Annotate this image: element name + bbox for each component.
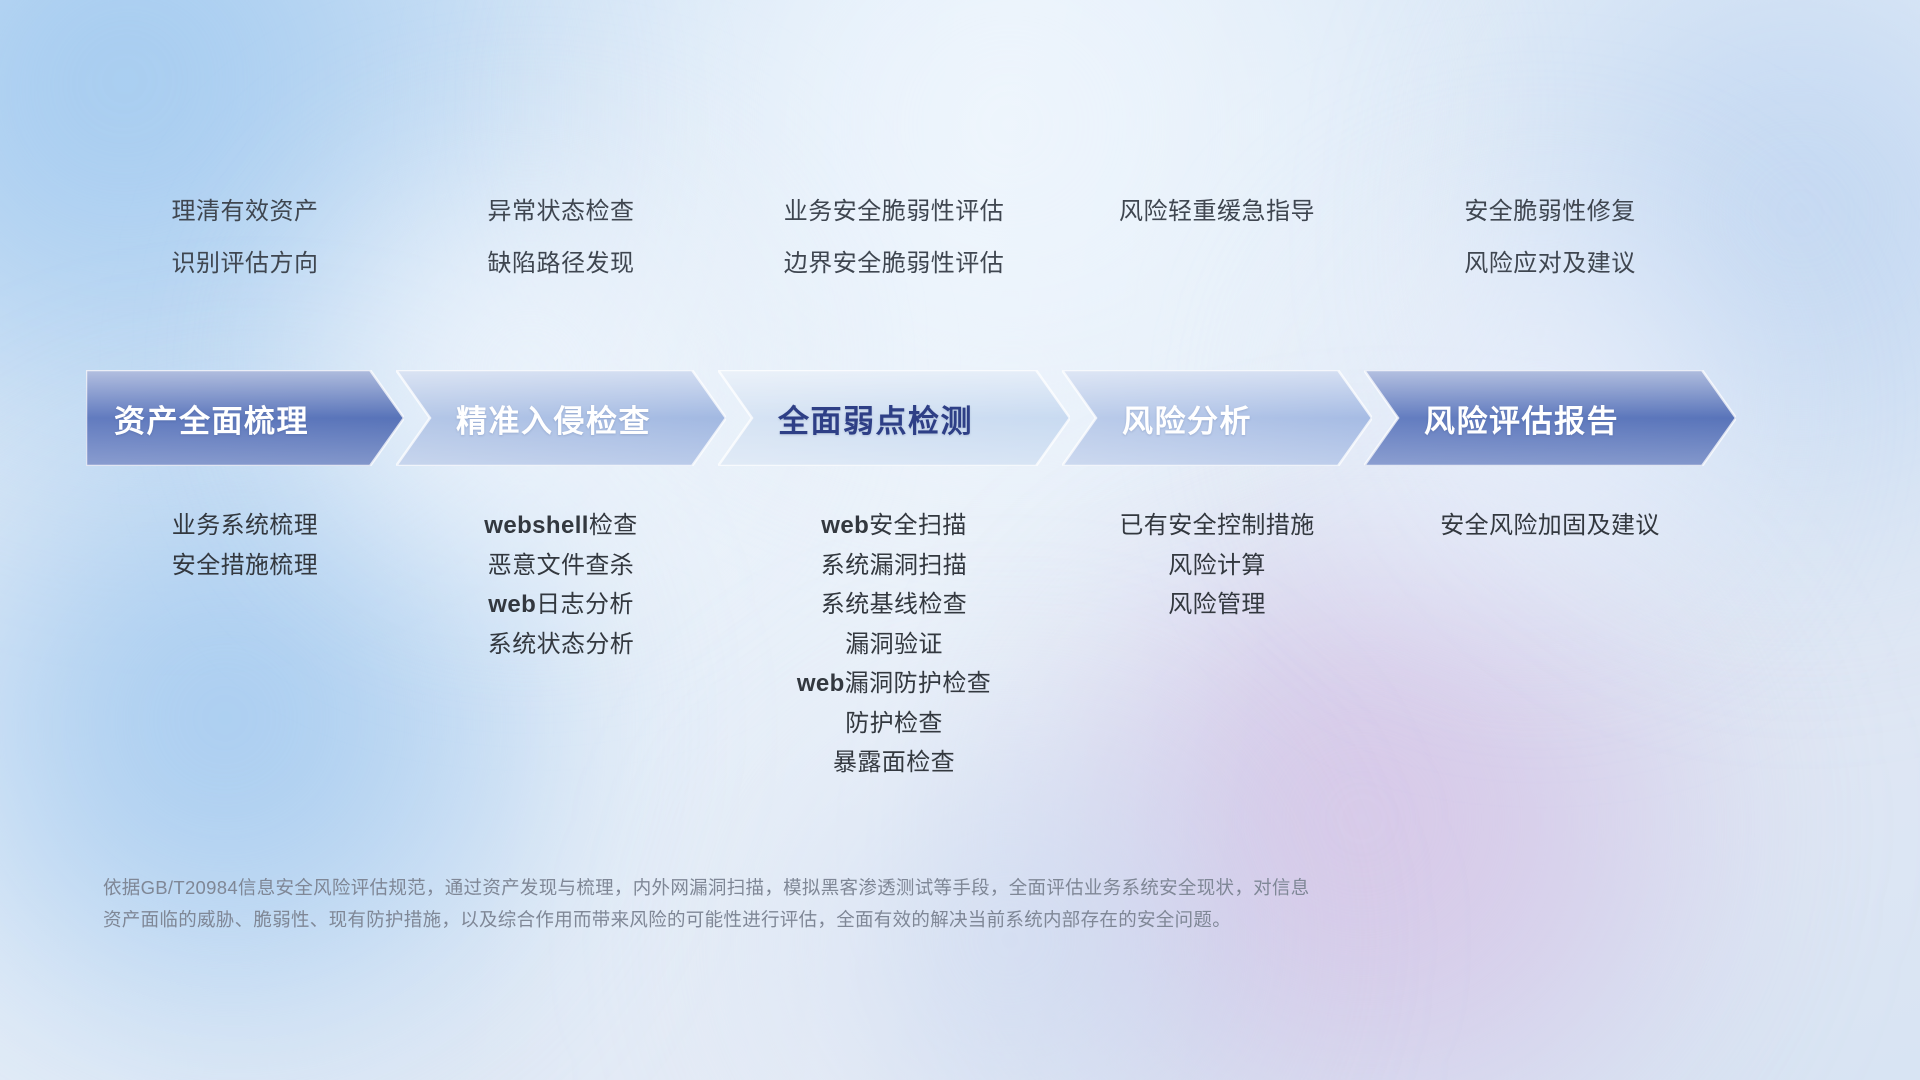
stage-chevron-1[interactable]: 资产全面梳理 (86, 370, 404, 466)
footnote: 依据GB/T20984信息安全风险评估规范，通过资产发现与梳理，内外网漏洞扫描，… (103, 872, 1573, 936)
stage-label-1: 资产全面梳理 (114, 396, 309, 441)
process-diagram: 理清有效资产 异常状态检查 业务安全脆弱性评估 风险轻重缓急指导 安全脆弱性修复… (0, 0, 1920, 1080)
top-label-rows: 理清有效资产 异常状态检查 业务安全脆弱性评估 风险轻重缓急指导 安全脆弱性修复… (0, 186, 1920, 290)
stage-label-5: 风险评估报告 (1424, 396, 1619, 441)
bottom-item: 暴露面检查 (684, 743, 1104, 783)
footnote-line-2: 资产面临的威胁、脆弱性、现有防护措施，以及综合作用而带来风险的可能性进行评估，全… (103, 904, 1573, 936)
stage-label-3: 全面弱点检测 (778, 396, 973, 441)
bottom-item: 防护检查 (684, 704, 1104, 744)
bottom-column-5: 安全风险加固及建议 (1340, 506, 1760, 546)
stage-chevron-bar: 资产全面梳理 精准入侵检查 全面弱点检测 风险分析 风险评估报告 (86, 370, 1834, 466)
stage-chevron-4[interactable]: 风险分析 (1062, 370, 1372, 466)
bottom-item: 安全风险加固及建议 (1340, 506, 1760, 546)
stage-chevron-3[interactable]: 全面弱点检测 (718, 370, 1070, 466)
stage-label-4: 风险分析 (1122, 396, 1252, 441)
top-label-row-1: 理清有效资产 异常状态检查 业务安全脆弱性评估 风险轻重缓急指导 安全脆弱性修复 (0, 186, 1920, 238)
bottom-item: web漏洞防护检查 (684, 664, 1104, 704)
footnote-line-1: 依据GB/T20984信息安全风险评估规范，通过资产发现与梳理，内外网漏洞扫描，… (103, 872, 1573, 904)
bottom-item: 漏洞验证 (684, 625, 1104, 665)
bottom-item: 风险管理 (1007, 585, 1427, 625)
top-label-row-2: 识别评估方向 缺陷路径发现 边界安全脆弱性评估 风险应对及建议 (0, 238, 1920, 290)
bottom-item: 风险计算 (1007, 546, 1427, 586)
stage-chevron-2[interactable]: 精准入侵检查 (396, 370, 726, 466)
stage-label-2: 精准入侵检查 (456, 396, 651, 441)
top-label-1-5: 安全脆弱性修复 (1350, 186, 1750, 238)
top-label-2-5: 风险应对及建议 (1350, 238, 1750, 290)
top-label-2-3: 边界安全脆弱性评估 (694, 238, 1094, 290)
stage-chevron-5[interactable]: 风险评估报告 (1364, 370, 1736, 466)
